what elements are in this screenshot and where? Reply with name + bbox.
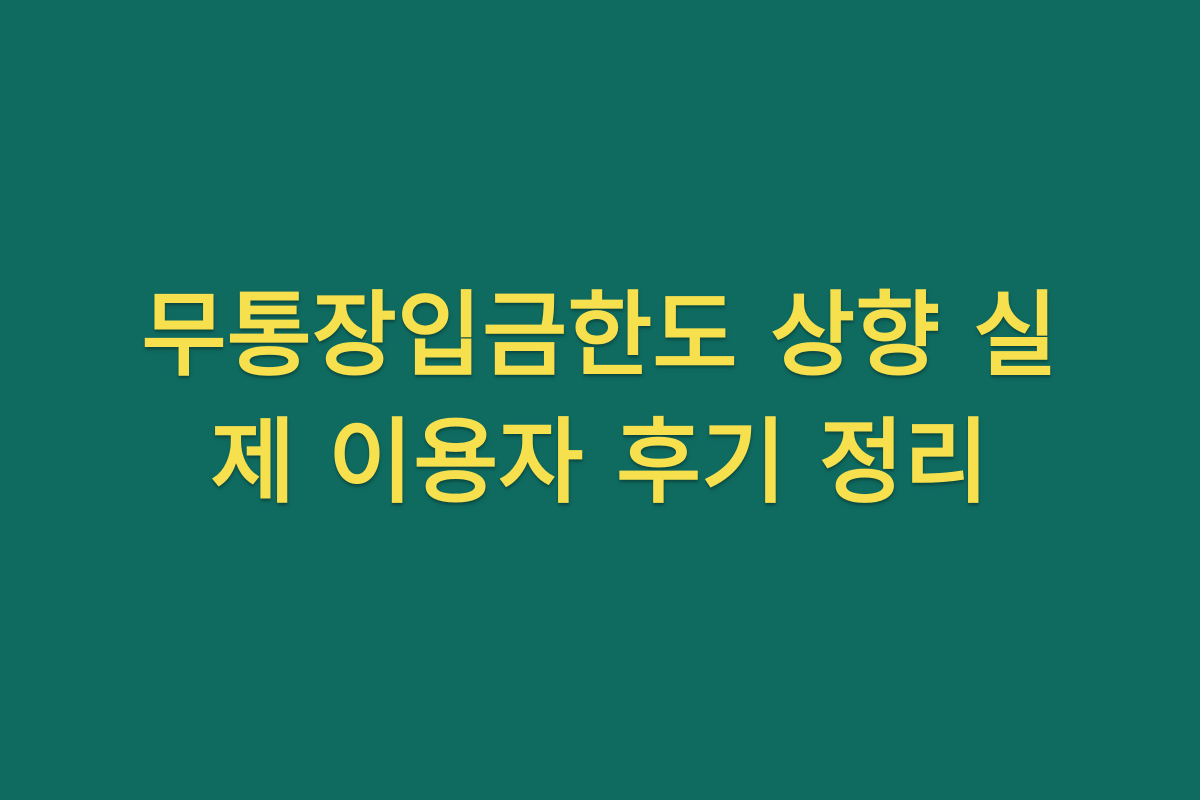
page-title: 무통장입금한도 상향 실제 이용자 후기 정리: [90, 273, 1110, 527]
title-line-1: 무통장입금한도 상향 실: [90, 273, 1110, 400]
title-banner: 무통장입금한도 상향 실제 이용자 후기 정리: [0, 0, 1200, 800]
title-line-2: 제 이용자 후기 정리: [90, 400, 1110, 527]
